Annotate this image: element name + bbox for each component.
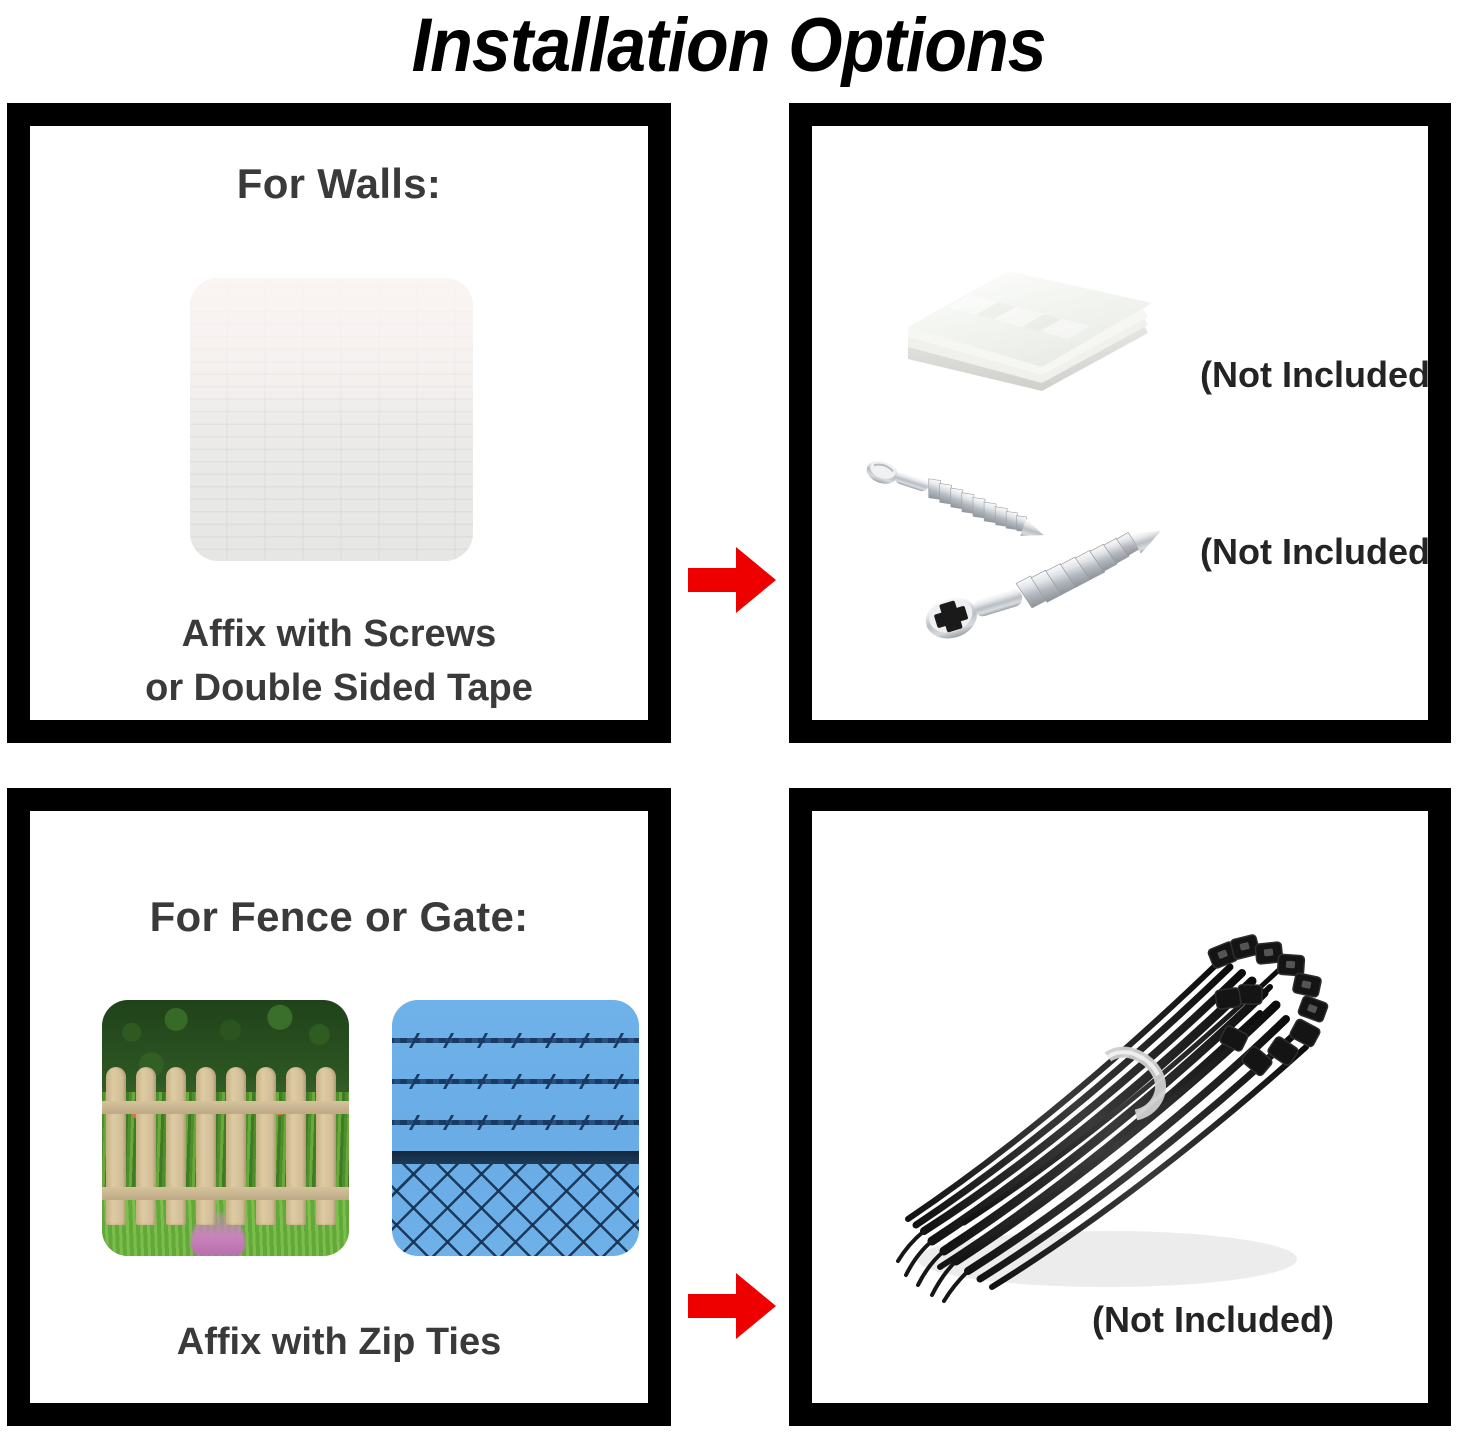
page-title: Installation Options [411, 8, 1045, 84]
caption-walls-line1: Affix with Screws [30, 608, 648, 662]
tape-not-included-label: (Not Included) [1200, 354, 1428, 396]
arrow-right-icon-top [686, 541, 778, 619]
zip-ties-bundle-image [872, 929, 1332, 1329]
zip-ties-not-included-label: (Not Included) [1092, 1299, 1334, 1341]
wood-screws-image [848, 444, 1210, 670]
caption-walls: Affix with Screws or Double Sided Tape [30, 608, 648, 716]
double-sided-tape-stack-image [890, 263, 1162, 415]
chain-link-fence-image [392, 1000, 639, 1256]
wooden-picket-fence-image [102, 1000, 349, 1256]
white-brick-wall-image [190, 278, 473, 561]
panel-zip-ties: (Not Included) [789, 788, 1451, 1426]
caption-fence: Affix with Zip Ties [30, 1316, 648, 1370]
title-bar: Installation Options [0, 0, 1457, 92]
panel-heading-fence: For Fence or Gate: [30, 893, 648, 941]
panel-for-fence: For Fence or Gate: [7, 788, 671, 1426]
panel-wall-supplies: (Not Included) [789, 103, 1451, 743]
arrow-right-icon-bottom [686, 1267, 778, 1345]
screws-not-included-label: (Not Included) [1200, 531, 1428, 573]
panel-for-walls: For Walls: Affix with Screws or Double S… [7, 103, 671, 743]
panel-heading-walls: For Walls: [30, 160, 648, 208]
caption-walls-line2: or Double Sided Tape [30, 662, 648, 716]
panel-grid: For Walls: Affix with Screws or Double S… [0, 95, 1457, 1434]
